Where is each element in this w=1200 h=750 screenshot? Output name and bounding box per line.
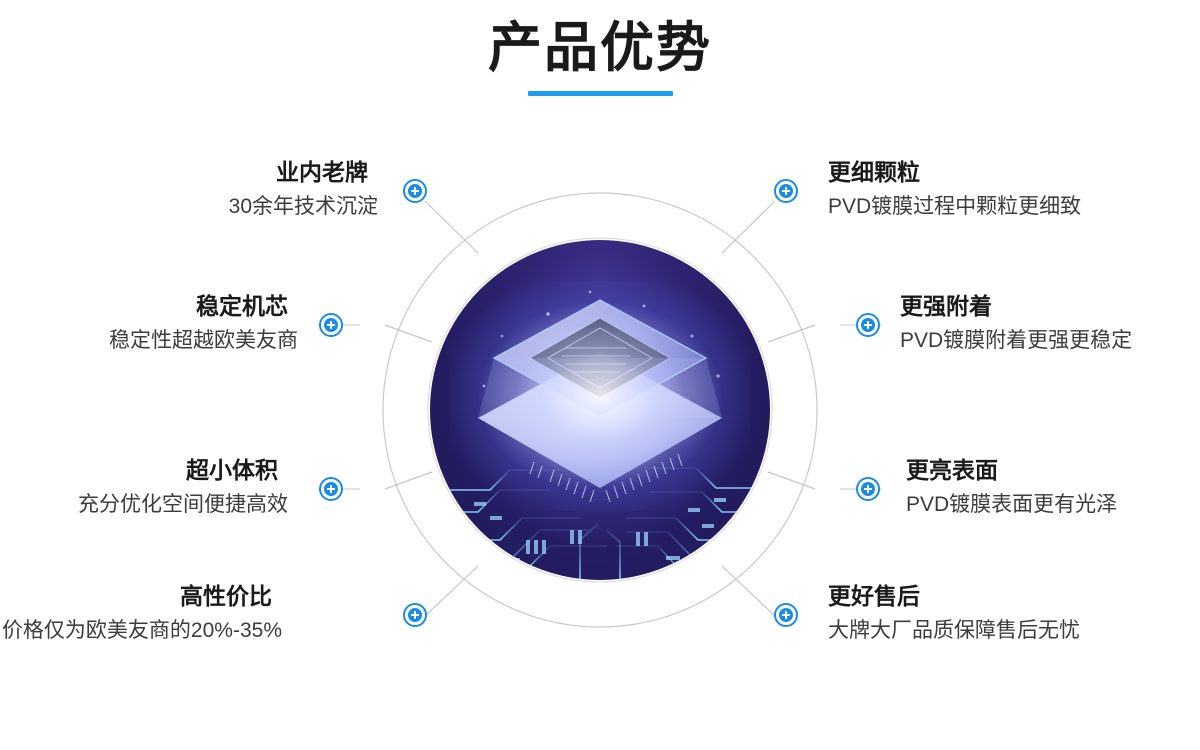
plus-glyph	[324, 482, 338, 496]
feature-item-left-4[interactable]: 高性价比 价格仅为欧美友商的20%-35%	[0, 582, 282, 645]
feature-title: 超小体积	[0, 456, 278, 485]
circuit-board-art	[430, 240, 770, 580]
feature-item-right-3[interactable]: 更亮表面 PVD镀膜表面更有光泽	[906, 456, 1200, 519]
plus-circle-icon-left-2[interactable]	[319, 313, 343, 337]
feature-item-left-2[interactable]: 稳定机芯 稳定性超越欧美友商	[0, 292, 298, 355]
plus-circle-icon-right-2[interactable]	[856, 313, 880, 337]
spoke-left-3	[385, 472, 432, 489]
feature-item-left-1[interactable]: 业内老牌 30余年技术沉淀	[48, 158, 378, 221]
plus-glyph	[861, 482, 875, 496]
feature-desc: PVD镀膜表面更有光泽	[906, 491, 1200, 519]
plus-glyph	[779, 184, 793, 198]
feature-desc: 稳定性超越欧美友商	[0, 327, 298, 355]
feature-title: 高性价比	[0, 582, 272, 611]
plus-glyph	[861, 318, 875, 332]
plus-circle-icon-right-4[interactable]	[774, 603, 798, 627]
plus-circle-icon-right-1[interactable]	[774, 179, 798, 203]
center-chip-image	[430, 240, 770, 580]
feature-title: 更细颗粒	[828, 158, 1158, 187]
product-advantages-infographic: 产品优势	[0, 0, 1200, 750]
feature-item-left-3[interactable]: 超小体积 充分优化空间便捷高效	[0, 456, 288, 519]
feature-title: 更强附着	[900, 292, 1200, 321]
feature-desc: 充分优化空间便捷高效	[0, 491, 288, 519]
feature-title: 更好售后	[828, 582, 1158, 611]
feature-desc: PVD镀膜过程中颗粒更细致	[828, 193, 1158, 221]
feature-item-right-4[interactable]: 更好售后 大牌大厂品质保障售后无忧	[828, 582, 1158, 645]
plus-circle-icon-left-4[interactable]	[403, 603, 427, 627]
plus-circle-icon-left-1[interactable]	[403, 179, 427, 203]
plus-glyph	[779, 608, 793, 622]
spoke-right-3	[768, 472, 815, 489]
feature-title: 更亮表面	[906, 456, 1200, 485]
feature-desc: PVD镀膜附着更强更稳定	[900, 327, 1200, 355]
spoke-right-2	[768, 325, 815, 342]
feature-desc: 30余年技术沉淀	[48, 193, 378, 221]
feature-item-right-1[interactable]: 更细颗粒 PVD镀膜过程中颗粒更细致	[828, 158, 1158, 221]
plus-circle-icon-left-3[interactable]	[319, 477, 343, 501]
feature-title: 业内老牌	[48, 158, 368, 187]
feature-title: 稳定机芯	[0, 292, 288, 321]
feature-item-right-2[interactable]: 更强附着 PVD镀膜附着更强更稳定	[900, 292, 1200, 355]
plus-glyph	[324, 318, 338, 332]
chip-haze	[478, 358, 722, 418]
spoke-left-2	[385, 325, 432, 342]
plus-glyph	[408, 608, 422, 622]
plus-glyph	[408, 184, 422, 198]
feature-desc: 大牌大厂品质保障售后无忧	[828, 617, 1158, 645]
plus-circle-icon-right-3[interactable]	[856, 477, 880, 501]
feature-desc: 价格仅为欧美友商的20%-35%	[0, 617, 282, 645]
